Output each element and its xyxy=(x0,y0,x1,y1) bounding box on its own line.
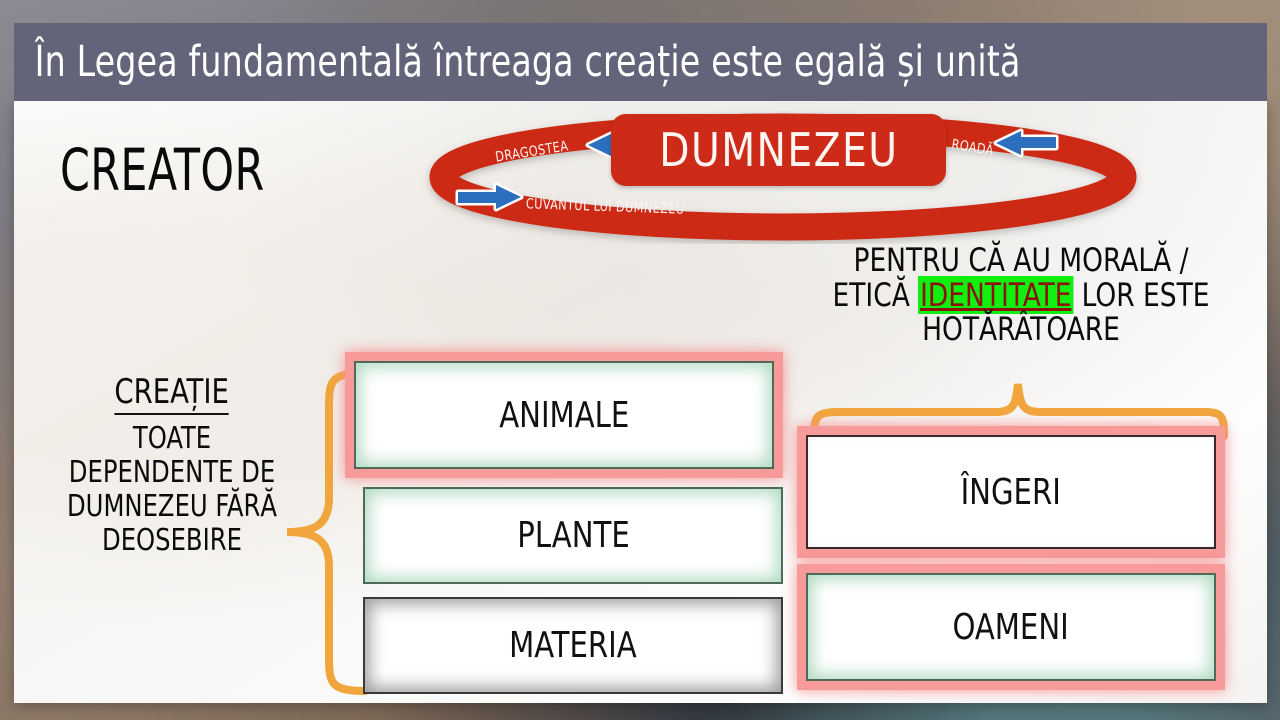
slide-title-bar: În Legea fundamentală întreaga creație e… xyxy=(14,23,1267,101)
explanation-line-1: PENTRU CĂ AU MORALĂ / xyxy=(823,243,1219,278)
creatie-line-2: DEPENDENTE DE xyxy=(37,456,307,490)
box-oameni-label: OAMENI xyxy=(953,607,1069,648)
god-center-label: DUMNEZEU xyxy=(659,123,898,177)
box-ingeri[interactable]: ÎNGERI xyxy=(806,435,1216,549)
box-animale[interactable]: ANIMALE xyxy=(354,361,774,469)
explanation-line-2: ETICĂ IDENTITATE LOR ESTE xyxy=(823,278,1219,313)
box-ingeri-label: ÎNGERI xyxy=(961,472,1061,513)
oameni-glow-wrapper: OAMENI xyxy=(806,573,1216,681)
box-animale-label: ANIMALE xyxy=(499,395,629,436)
explanation-text: PENTRU CĂ AU MORALĂ / ETICĂ IDENTITATE L… xyxy=(806,243,1236,347)
creatie-heading: CREAȚIE xyxy=(115,372,230,415)
box-oameni[interactable]: OAMENI xyxy=(806,573,1216,681)
creatie-text-block: CREAȚIE TOATE DEPENDENTE DE DUMNEZEU FĂR… xyxy=(22,372,322,558)
creatie-line-4: DEOSEBIRE xyxy=(37,524,307,558)
cycle-diagram: DUMNEZEU DRAGOSTEA ROADĂ CUVÂNTUL LUI DU… xyxy=(418,104,1148,244)
box-plante[interactable]: PLANTE xyxy=(363,487,783,584)
animale-glow-wrapper: ANIMALE xyxy=(354,361,774,469)
explanation-line-3: HOTĂRÂTOARE xyxy=(823,312,1219,347)
box-materia[interactable]: MATERIA xyxy=(363,597,783,694)
creatie-line-3: DUMNEZEU FĂRĂ xyxy=(37,490,307,524)
creatie-line-1: TOATE xyxy=(37,422,307,456)
right-curly-brace xyxy=(808,378,1228,440)
box-materia-label: MATERIA xyxy=(509,625,637,666)
slide-title-text: În Legea fundamentală întreaga creație e… xyxy=(14,41,1021,84)
identitate-highlight: IDENTITATE xyxy=(918,276,1073,314)
creator-label: CREATOR xyxy=(60,136,265,204)
explanation-line-2-before: ETICĂ xyxy=(833,276,919,314)
explanation-line-2-after: LOR ESTE xyxy=(1073,276,1209,314)
god-center-box: DUMNEZEU xyxy=(611,114,946,186)
ingeri-glow-wrapper: ÎNGERI xyxy=(806,435,1216,549)
creatie-body: TOATE DEPENDENTE DE DUMNEZEU FĂRĂ DEOSEB… xyxy=(22,422,322,558)
box-plante-label: PLANTE xyxy=(517,515,630,556)
slide-canvas: În Legea fundamentală întreaga creație e… xyxy=(0,0,1280,720)
